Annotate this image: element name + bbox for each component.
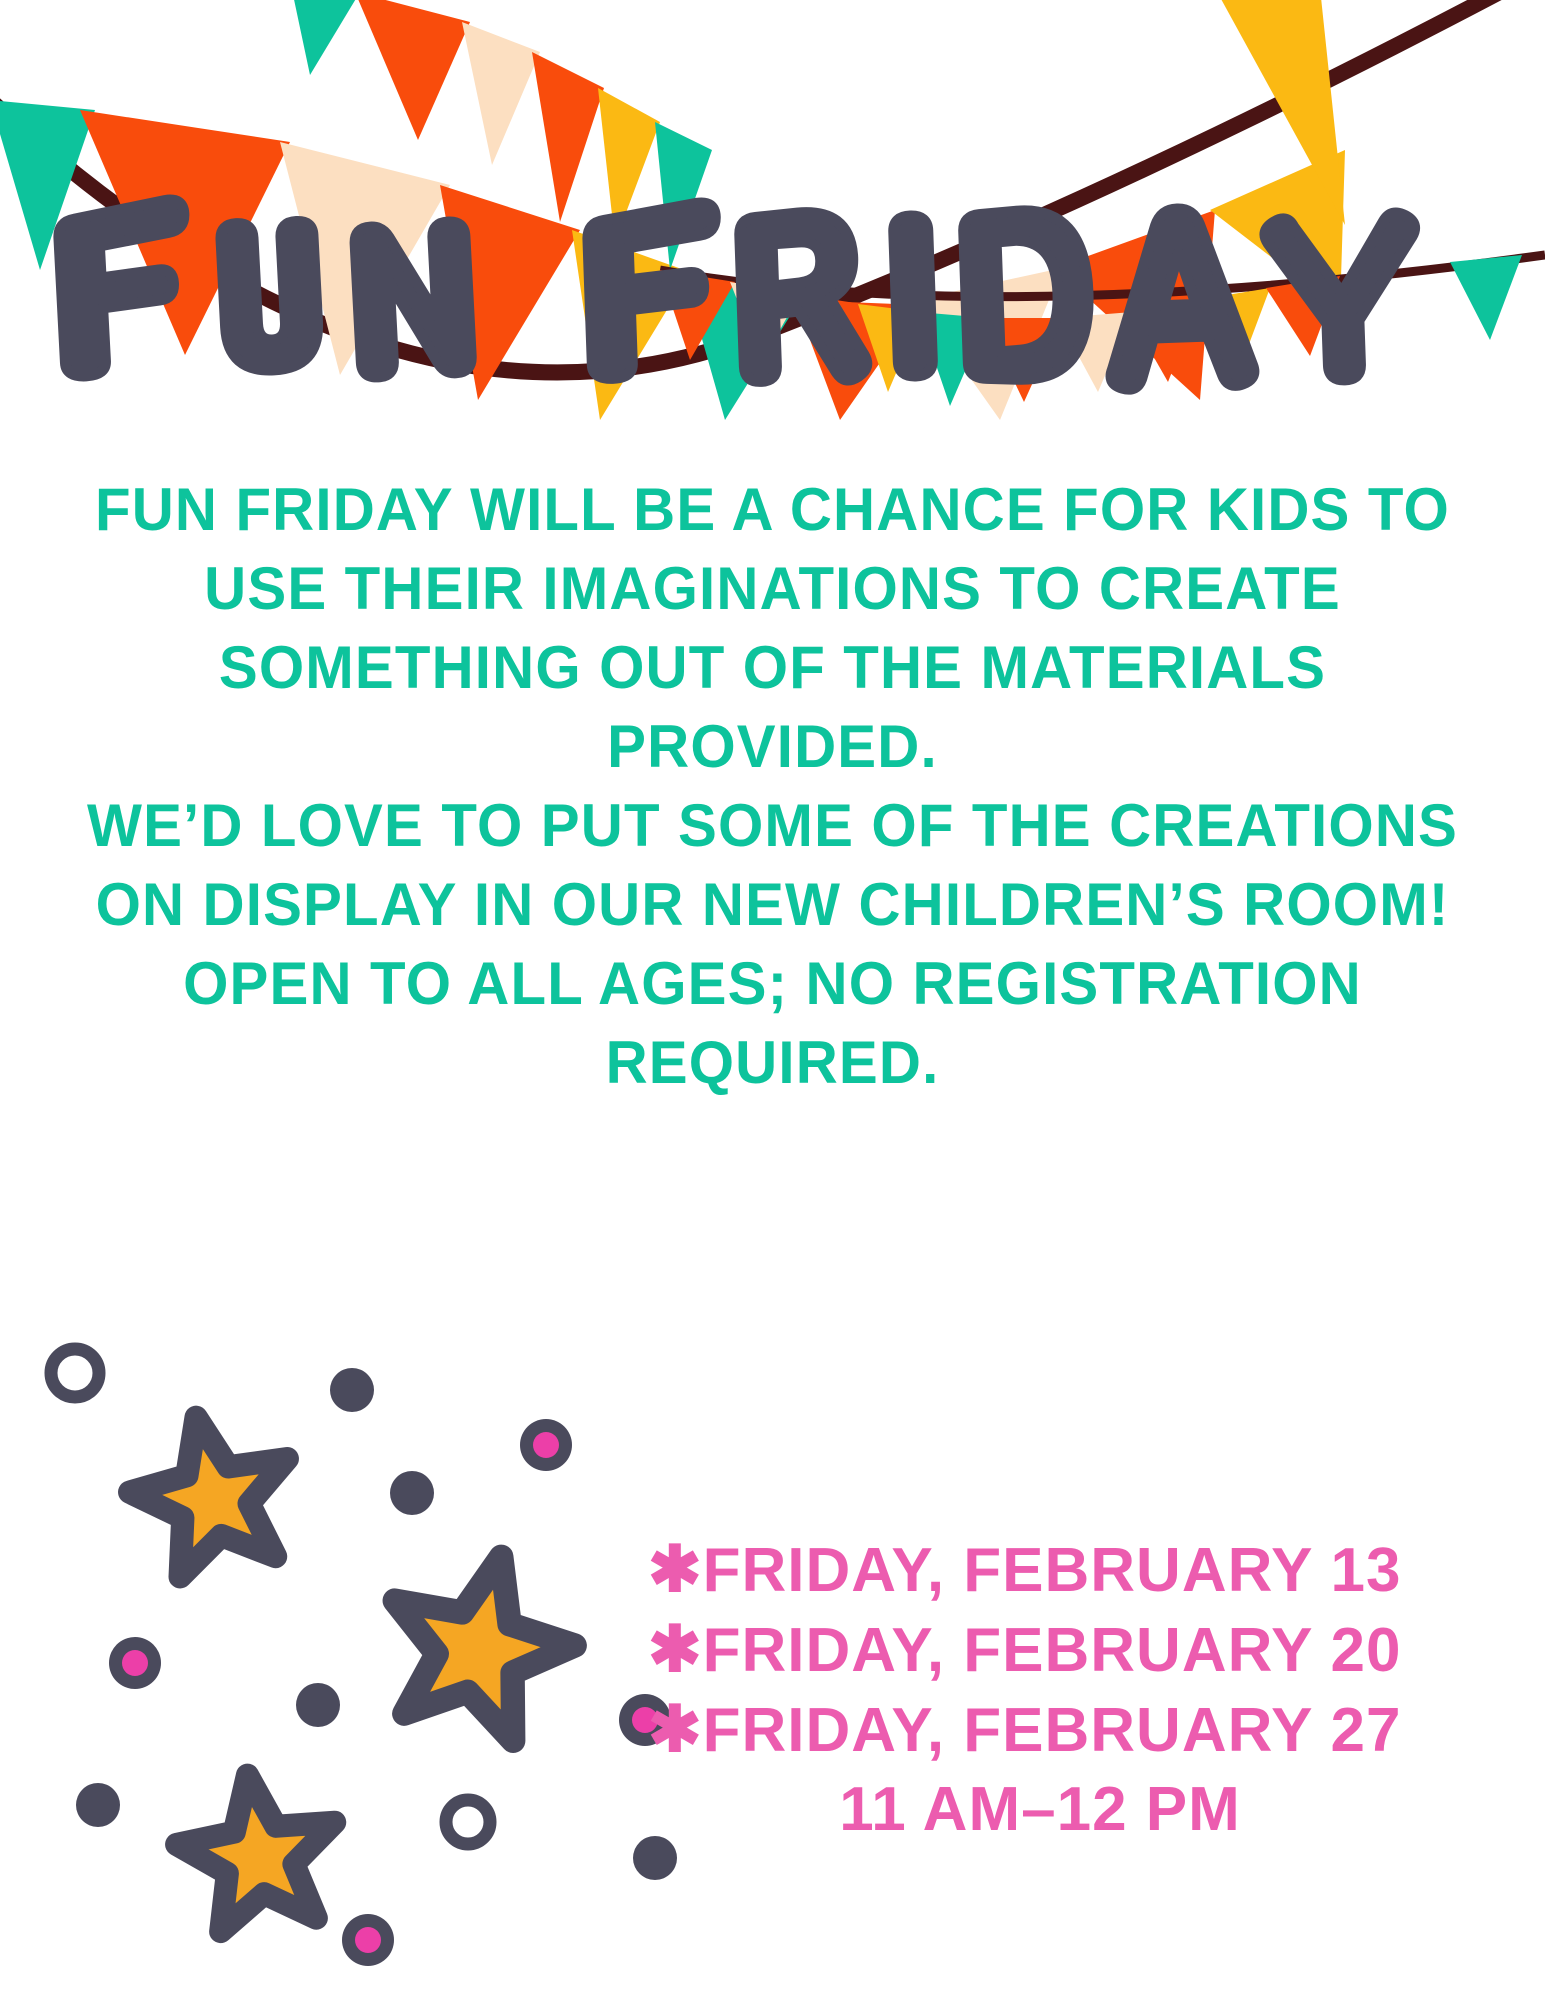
confetti-ring-pink-icon	[109, 1637, 161, 1689]
confetti-ring-icon	[51, 1349, 99, 1397]
letter-F2	[587, 202, 721, 379]
date-row-3: ✱FRIDAY, FEBRUARY 27	[620, 1690, 1500, 1770]
confetti-ring-pink-center	[355, 1927, 381, 1953]
confetti-dot-icon	[296, 1683, 340, 1727]
letter-D	[963, 209, 1091, 382]
confetti-ring-pink-center	[533, 1432, 559, 1458]
confetti-decoration	[0, 1280, 700, 2000]
confetti-dot-icon	[76, 1783, 120, 1827]
title-lettering	[0, 185, 1545, 400]
date-label-2: FRIDAY, FEBRUARY 20	[703, 1616, 1402, 1685]
body-line-1: FUN FRIDAY WILL BE A CHANCE FOR KIDS TO	[72, 470, 1474, 549]
confetti-ring-pink-center	[122, 1650, 148, 1676]
asterisk-icon: ✱	[648, 1613, 703, 1685]
poster-canvas: FUN FRIDAY WILL BE A CHANCE FOR KIDS TO …	[0, 0, 1545, 2000]
pennant-flag	[292, 0, 360, 75]
confetti-ring-pink-icon	[342, 1914, 394, 1966]
pennant-flag	[355, 0, 470, 140]
body-line-3: SOMETHING OUT OF THE MATERIALS	[72, 628, 1474, 707]
letter-R	[739, 211, 867, 384]
date-row-1: ✱FRIDAY, FEBRUARY 13	[620, 1530, 1500, 1610]
event-dates: ✱FRIDAY, FEBRUARY 13 ✱FRIDAY, FEBRUARY 2…	[620, 1530, 1500, 1850]
date-label-3: FRIDAY, FEBRUARY 27	[703, 1696, 1402, 1765]
confetti-svg	[0, 1280, 700, 2000]
confetti-ring-icon	[446, 1800, 490, 1844]
date-row-2: ✱FRIDAY, FEBRUARY 20	[620, 1610, 1500, 1690]
confetti-dot-icon	[390, 1471, 434, 1515]
letter-I	[893, 215, 933, 376]
asterisk-icon: ✱	[648, 1693, 703, 1765]
body-line-6: ON DISPLAY IN OUR NEW CHILDREN’S ROOM!	[72, 865, 1474, 944]
body-line-8: REQUIRED.	[72, 1023, 1474, 1102]
confetti-dot-icon	[330, 1368, 374, 1412]
confetti-star-icon	[168, 1764, 347, 1936]
event-time: 11 AM–12 PM	[620, 1770, 1500, 1850]
letter-N	[354, 221, 472, 378]
page-title	[0, 185, 1545, 395]
body-line-2: USE THEIR IMAGINATIONS TO CREATE	[72, 549, 1474, 628]
body-copy: FUN FRIDAY WILL BE A CHANCE FOR KIDS TO …	[50, 470, 1495, 1102]
pennant-flag	[462, 22, 540, 165]
letter-Y	[1264, 212, 1419, 382]
letter-A	[1105, 207, 1254, 390]
confetti-star-icon	[369, 1534, 591, 1749]
body-line-7: OPEN TO ALL AGES; NO REGISTRATION	[72, 944, 1474, 1023]
confetti-ring-pink-icon	[520, 1419, 572, 1471]
letter-F	[57, 199, 192, 377]
confetti-star-icon	[117, 1401, 306, 1584]
asterisk-icon: ✱	[648, 1533, 703, 1605]
body-line-5: WE’D LOVE TO PUT SOME OF THE CREATIONS	[72, 786, 1474, 865]
date-label-1: FRIDAY, FEBRUARY 13	[703, 1536, 1402, 1605]
body-line-4: PROVIDED.	[72, 707, 1474, 786]
letter-U	[220, 220, 320, 373]
